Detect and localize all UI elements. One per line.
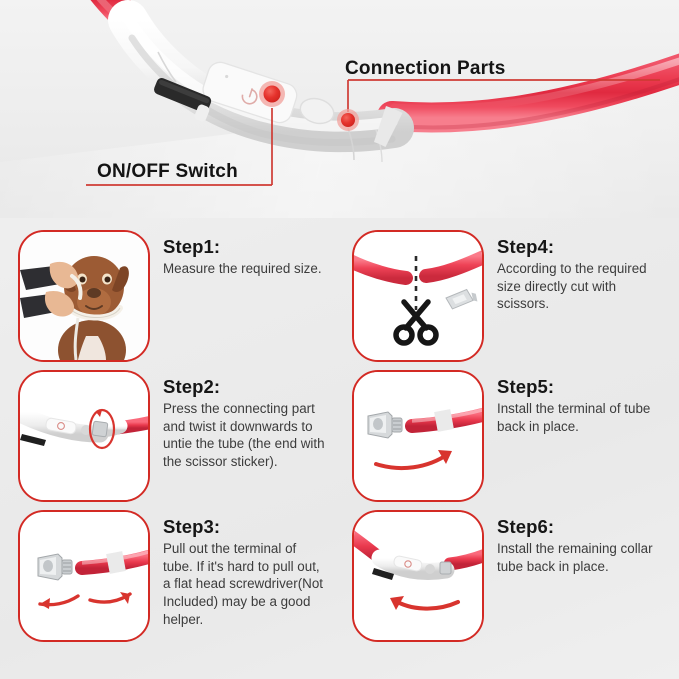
step-body-3: Pull out the terminal of tube. If it's h… [163,540,326,629]
step-title-2: Step2: [163,377,326,398]
step-card-6: Step6: Install the remaining collar tube… [352,510,667,642]
marker-dot-onoff [264,86,281,103]
step-thumbnail-1 [18,230,150,362]
step-text-1: Step1: Measure the required size. [163,230,326,278]
step-thumbnail-5 [352,370,484,502]
step-text-5: Step5: Install the terminal of tube back… [497,370,667,435]
steps-grid: Step1: Measure the required size. [0,218,679,679]
step-title-3: Step3: [163,517,326,538]
step-card-4: Step4: According to the required size di… [352,230,667,362]
step-thumbnail-3 [18,510,150,642]
step-card-3: Step3: Pull out the terminal of tube. If… [18,510,326,642]
step-thumbnail-4 [352,230,484,362]
step-body-4: According to the required size directly … [497,260,667,313]
step-thumbnail-6 [352,510,484,642]
instruction-infographic: Connection Parts ON/OFF Switch [0,0,679,679]
step-body-5: Install the terminal of tube back in pla… [497,400,667,436]
step-card-2: Step2: Press the connecting part and twi… [18,370,326,502]
step-text-3: Step3: Pull out the terminal of tube. If… [163,510,326,629]
step-text-2: Step2: Press the connecting part and twi… [163,370,326,471]
step-card-5: Step5: Install the terminal of tube back… [352,370,667,502]
step-card-1: Step1: Measure the required size. [18,230,326,362]
step-title-6: Step6: [497,517,667,538]
step-body-2: Press the connecting part and twist it d… [163,400,326,471]
step-thumbnail-2 [18,370,150,502]
step-text-6: Step6: Install the remaining collar tube… [497,510,667,575]
callout-label-connection-parts: Connection Parts [345,58,506,80]
step-body-6: Install the remaining collar tube back i… [497,540,667,576]
step-text-4: Step4: According to the required size di… [497,230,667,313]
step-title-4: Step4: [497,237,667,258]
callout-label-on-off-switch: ON/OFF Switch [97,161,238,183]
hero-product-photo: Connection Parts ON/OFF Switch [0,0,679,218]
step-body-1: Measure the required size. [163,260,326,278]
collar-illustration [0,0,679,218]
step-title-5: Step5: [497,377,667,398]
step-title-1: Step1: [163,237,326,258]
marker-dot-connection [341,113,355,127]
